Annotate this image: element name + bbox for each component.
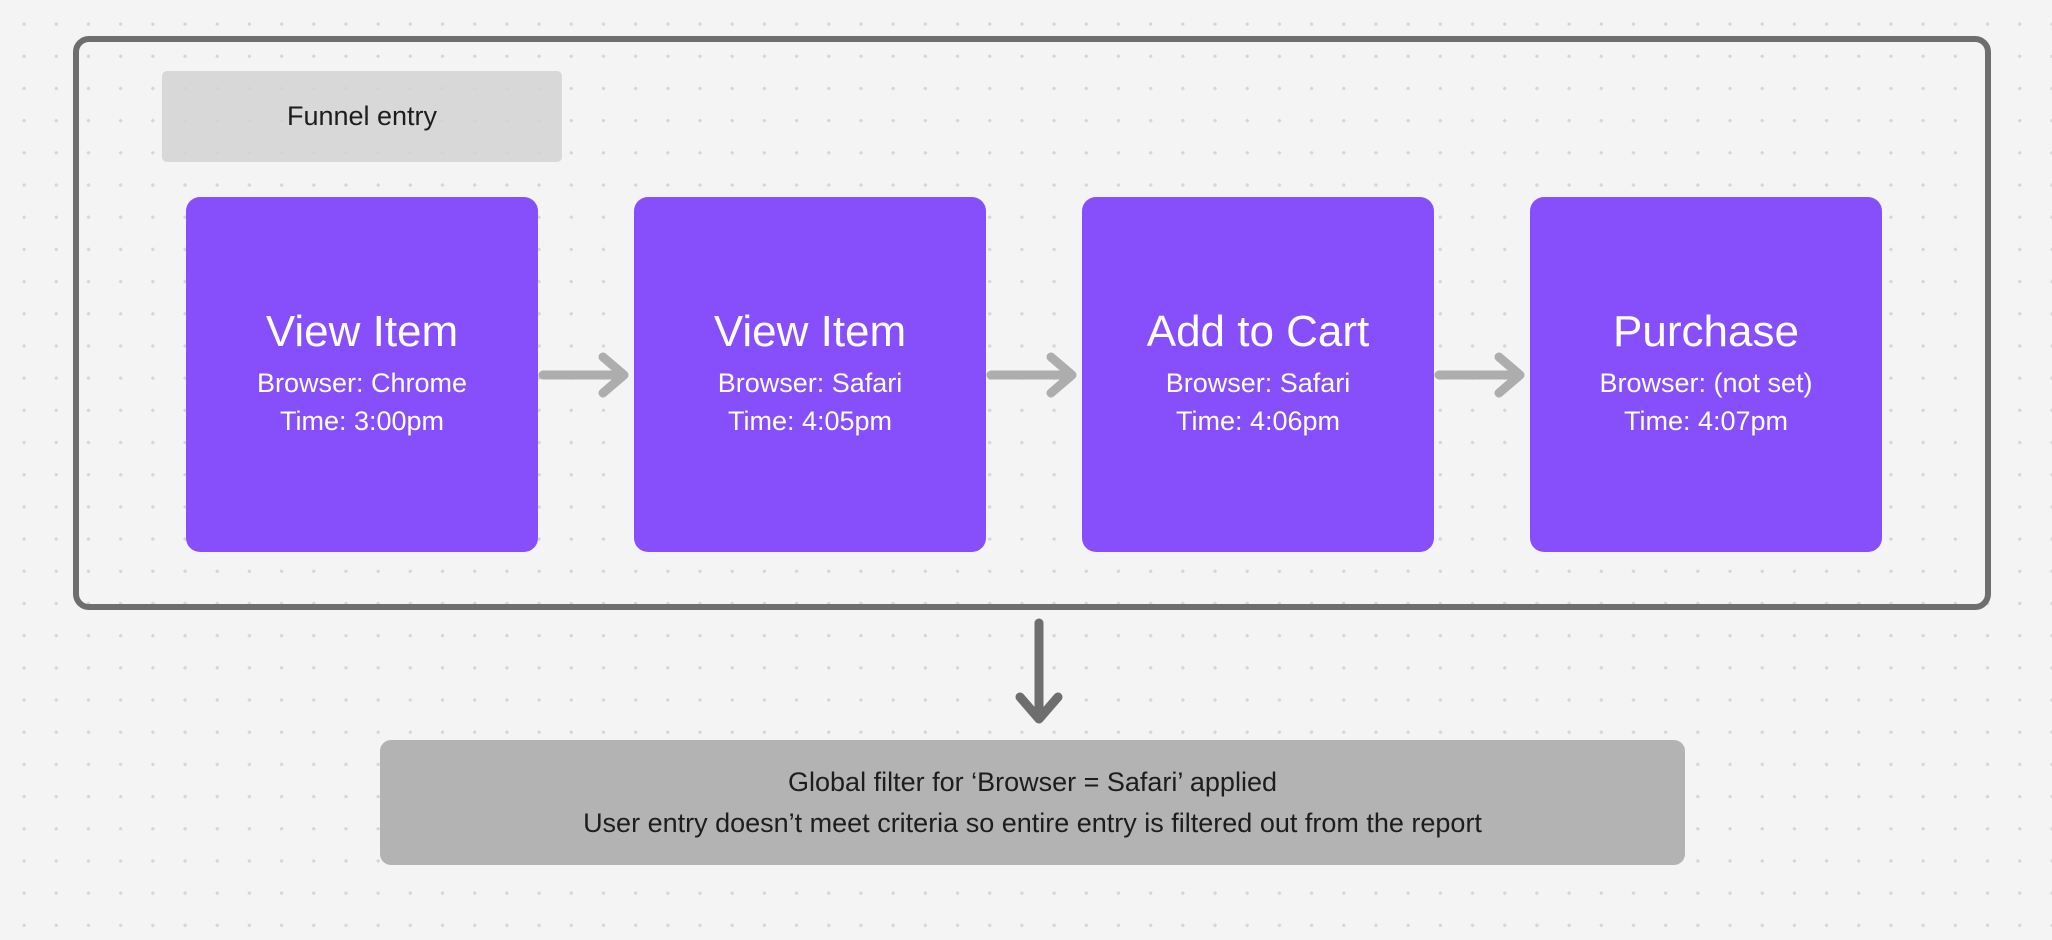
step-title: Add to Cart bbox=[1147, 309, 1370, 355]
funnel-step-card-1[interactable]: View Item Browser: Chrome Time: 3:00pm bbox=[186, 197, 538, 552]
step-browser: Browser: Safari bbox=[718, 365, 903, 402]
funnel-steps-row: View Item Browser: Chrome Time: 3:00pm V… bbox=[186, 197, 1865, 552]
step-time: Time: 3:00pm bbox=[280, 403, 444, 440]
arrow-down-icon bbox=[1013, 618, 1065, 728]
step-time: Time: 4:05pm bbox=[728, 403, 892, 440]
step-title: Purchase bbox=[1613, 309, 1799, 355]
step-time: Time: 4:07pm bbox=[1624, 403, 1788, 440]
funnel-entry-label: Funnel entry bbox=[162, 71, 562, 162]
funnel-step-card-3[interactable]: Add to Cart Browser: Safari Time: 4:06pm bbox=[1082, 197, 1434, 552]
step-browser: Browser: (not set) bbox=[1599, 365, 1812, 402]
arrow-right-icon bbox=[1434, 349, 1530, 401]
step-browser: Browser: Safari bbox=[1166, 365, 1351, 402]
step-title: View Item bbox=[714, 309, 906, 355]
diagram-canvas: Funnel entry View Item Browser: Chrome T… bbox=[0, 0, 2052, 940]
funnel-entry-label-text: Funnel entry bbox=[287, 101, 437, 132]
arrow-right-icon bbox=[538, 349, 634, 401]
filter-note-banner: Global filter for ‘Browser = Safari’ app… bbox=[380, 740, 1685, 865]
step-title: View Item bbox=[266, 309, 458, 355]
filter-note-line-1: Global filter for ‘Browser = Safari’ app… bbox=[788, 762, 1277, 803]
filter-note-line-2: User entry doesn’t meet criteria so enti… bbox=[583, 803, 1482, 844]
arrow-right-icon bbox=[986, 349, 1082, 401]
step-time: Time: 4:06pm bbox=[1176, 403, 1340, 440]
funnel-step-card-2[interactable]: View Item Browser: Safari Time: 4:05pm bbox=[634, 197, 986, 552]
step-browser: Browser: Chrome bbox=[257, 365, 467, 402]
funnel-step-card-4[interactable]: Purchase Browser: (not set) Time: 4:07pm bbox=[1530, 197, 1882, 552]
